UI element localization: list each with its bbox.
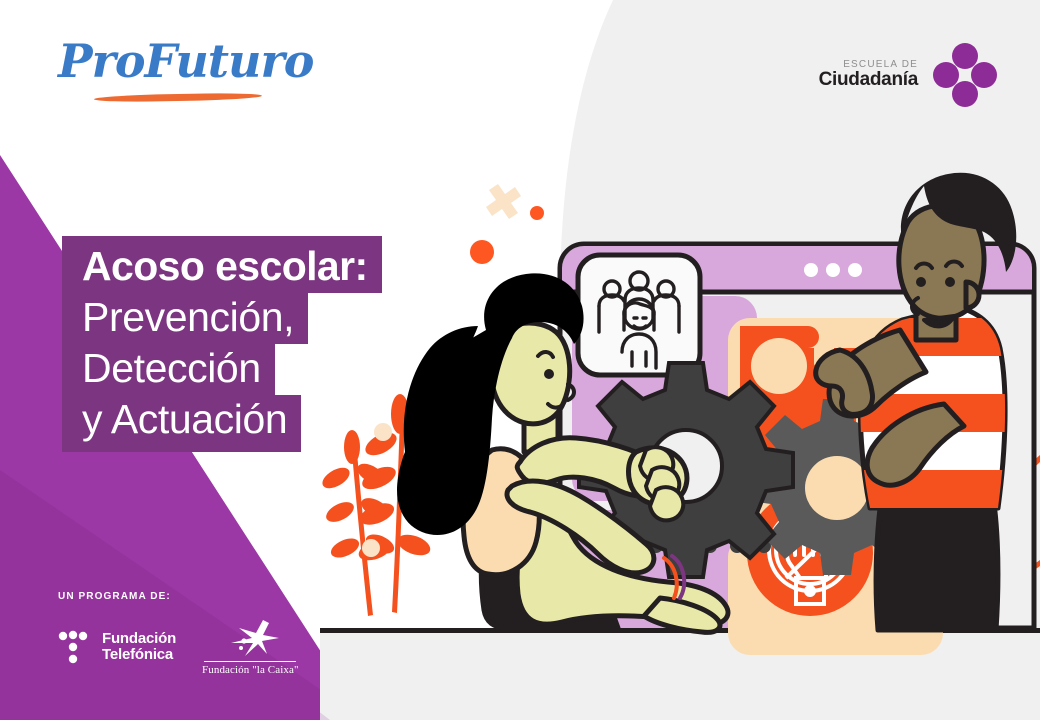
fundacion-la-caixa-name: Fundación "la Caixa" <box>202 664 299 676</box>
footer-eyebrow: UN PROGRAMA DE: <box>58 591 299 602</box>
caixa-divider <box>204 661 296 662</box>
fundacion-telefonica-name: Fundación Telefónica <box>102 631 176 663</box>
footer-logo-row: Fundación Telefónica Fundación "la Caixa… <box>58 618 299 676</box>
title-line-3: Detección <box>62 344 275 395</box>
caixa-star-icon <box>219 618 281 658</box>
poster-canvas: ProFuturo ESCUELA DE Ciudadanía Acoso es… <box>0 0 1040 720</box>
page-title: Acoso escolar: Prevención, Detección y A… <box>62 236 382 452</box>
escuela-name: Ciudadanía <box>819 70 918 90</box>
four-circle-flower-icon <box>932 42 998 108</box>
escuela-ciudadania-logo[interactable]: ESCUELA DE Ciudadanía <box>819 42 998 108</box>
telefonica-dots-icon <box>58 630 92 664</box>
footer-sponsors: UN PROGRAMA DE: Fundación Telefónica <box>58 591 299 676</box>
escuela-ciudadania-text: ESCUELA DE Ciudadanía <box>819 60 918 90</box>
title-line-1: Acoso escolar: <box>62 236 382 293</box>
fundacion-telefonica-line-2: Telefónica <box>102 647 176 663</box>
title-line-4: y Actuación <box>62 395 301 452</box>
title-line-2: Prevención, <box>62 293 308 344</box>
fundacion-la-caixa-logo[interactable]: Fundación "la Caixa" <box>202 618 299 676</box>
profuturo-logo[interactable]: ProFuturo <box>58 38 308 110</box>
profuturo-wordmark: ProFuturo <box>58 38 308 84</box>
profuturo-underline-swoosh <box>94 92 262 103</box>
fundacion-telefonica-logo[interactable]: Fundación Telefónica <box>58 630 176 664</box>
fundacion-telefonica-line-1: Fundación <box>102 631 176 647</box>
